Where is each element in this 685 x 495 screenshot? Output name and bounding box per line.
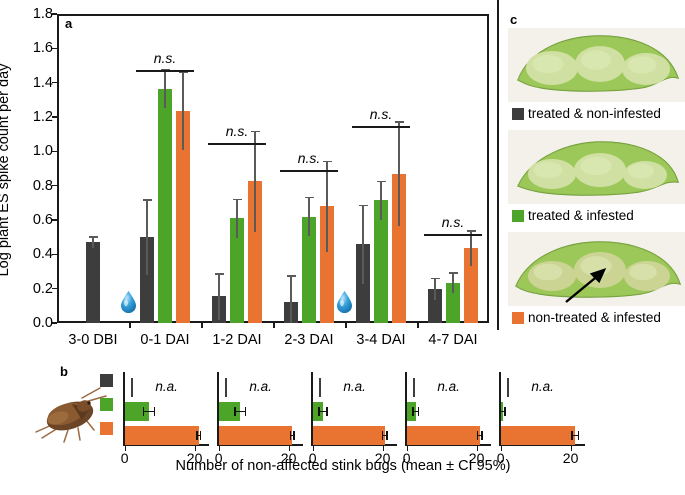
panel-a-error-bar — [290, 275, 292, 323]
panel-b-subplot: n.a.020 — [405, 372, 491, 446]
panel-a-error-bar — [434, 278, 436, 300]
panel-divider — [497, 0, 499, 330]
legend-swatch-treated-infested — [100, 398, 113, 411]
panel-a: a Log plant ES spike count per day 0.00.… — [0, 0, 495, 360]
panel-a-significance-label: n.s. — [154, 50, 177, 66]
panel-b-na-label: n.a. — [343, 379, 366, 394]
panel-a-error-bar-cap — [143, 199, 152, 201]
panel-a-significance-bar — [280, 170, 338, 172]
panel-a-y-tick-label: 1.8 — [33, 6, 53, 22]
panel-a-error-bar — [470, 230, 472, 266]
panel-a-y-tick-label: 0.4 — [33, 246, 53, 262]
panel-a-x-tick-label: 4-7 DAI — [428, 332, 477, 348]
panel-c-item: treated & infested — [508, 130, 685, 223]
panel-c-item: treated & non-infested — [508, 28, 685, 121]
panel-a-y-tick-label: 0.2 — [33, 281, 53, 297]
panel-a-error-bar — [380, 181, 382, 220]
panel-a-error-bar — [146, 199, 148, 275]
panel-a-significance-bar — [424, 234, 482, 236]
legend-swatch-treated-infested — [512, 210, 524, 222]
panel-b-bar — [125, 426, 199, 445]
panel-a-error-bar-cap — [431, 278, 440, 280]
water-drop-icon — [120, 290, 137, 313]
panel-a-y-axis-label: Log plant ES spike count per day — [0, 64, 12, 277]
panel-a-significance-bar — [352, 126, 410, 128]
panel-a-error-bar — [218, 273, 220, 319]
panel-b-error-bar-cap — [326, 407, 328, 416]
panel-b-error-bar-cap — [318, 407, 320, 416]
panel-a-error-bar-cap — [377, 181, 386, 183]
panel-b-error-bar-cap — [481, 431, 483, 440]
panel-a-y-tick-label: 1.6 — [33, 40, 53, 56]
panel-a-error-bar-cap — [467, 230, 476, 232]
panel-a-y-tick-label: 1.4 — [33, 75, 53, 91]
panel-a-x-tickmark — [129, 323, 131, 328]
panel-a-error-bar — [254, 131, 256, 232]
panel-a-x-tickmark — [273, 323, 275, 328]
panel-b-error-bar-cap — [412, 407, 414, 416]
panel-b-error-bar-cap — [196, 431, 198, 440]
panel-a-error-bar-cap — [359, 205, 368, 207]
panel-b-na-label: n.a. — [249, 379, 272, 394]
panel-b-x-axis-label: Number of non-affected stink bugs (mean … — [176, 458, 511, 474]
panel-a-x-tick-label: 1-2 DAI — [212, 332, 261, 348]
panel-b-subplot: n.a.020 — [123, 372, 209, 446]
panel-c: c treated & non-infested treated & infes… — [497, 0, 685, 330]
panel-a-error-bar-cap — [215, 273, 224, 275]
water-drop-icon — [336, 290, 353, 313]
panel-b: b n.a.020 n.a.020 n.a.020 — [0, 358, 685, 495]
panel-b-error-bar-cap — [293, 431, 295, 440]
panel-a-axis-top — [57, 14, 489, 16]
panel-a-error-bar-cap — [323, 161, 332, 163]
panel-b-subplot: n.a.020 — [499, 372, 585, 446]
panel-a-error-bar-cap — [179, 72, 188, 74]
panel-a-error-bar — [182, 72, 184, 151]
panel-a-error-bar-cap — [233, 199, 242, 201]
figure-root: a Log plant ES spike count per day 0.00.… — [0, 0, 685, 495]
panel-c-item: non-treated & infested — [508, 232, 685, 325]
panel-b-zero-marker — [413, 378, 415, 397]
panel-b-subplot: n.a.020 — [217, 372, 303, 446]
legend-swatch-treated-non-infested — [512, 108, 524, 120]
panel-b-letter: b — [60, 364, 68, 379]
panel-b-na-label: n.a. — [531, 379, 554, 394]
panel-b-error-bar-cap — [386, 431, 388, 440]
panel-c-content: treated & non-infested treated & infeste… — [508, 28, 685, 334]
panel-a-error-bar-cap — [251, 131, 260, 133]
panel-a-error-bar-cap — [449, 272, 458, 274]
panel-a-significance-bar — [208, 143, 266, 145]
panel-c-legend-label: non-treated & infested — [528, 310, 661, 325]
stink-bug-icon — [28, 380, 116, 450]
panel-b-error-bar-cap — [418, 407, 420, 416]
legend-swatch-non-treated-infested — [100, 422, 113, 435]
panel-a-error-bar — [92, 236, 94, 248]
panel-b-error-bar-cap — [504, 407, 506, 416]
panel-a-x-tickmark — [345, 323, 347, 328]
panel-a-error-bar — [452, 272, 454, 293]
panel-a-error-bar — [326, 161, 328, 252]
panel-a-x-tick-label: 0-1 DAI — [140, 332, 189, 348]
panel-a-x-tick-label: 3-0 DBI — [68, 332, 117, 348]
panel-b-error-bar-cap — [382, 431, 384, 440]
legend-swatch-treated-non-infested — [100, 374, 113, 387]
panel-c-legend-label: treated & infested — [528, 208, 634, 223]
soybean-pod-treated-infested — [508, 130, 685, 204]
panel-b-x-tick-label: 0 — [121, 450, 129, 466]
panel-b-na-label: n.a. — [437, 379, 460, 394]
panel-a-error-bar-cap — [89, 236, 98, 238]
panel-c-letter: c — [510, 12, 517, 27]
panel-a-error-bar — [164, 69, 166, 108]
panel-a-y-tick-label: 0.0 — [33, 315, 53, 331]
legend-swatch-non-treated-infested — [512, 312, 524, 324]
panel-a-plot-area: 0.00.20.40.60.81.01.21.41.61.8 3-0 DBI0-… — [57, 14, 489, 323]
soybean-pod-treated-non-infested — [508, 28, 685, 102]
panel-a-error-bar — [236, 199, 238, 238]
panel-b-zero-marker — [131, 378, 133, 397]
panel-a-x-tick-label: 3-4 DAI — [356, 332, 405, 348]
panel-a-error-bar — [308, 197, 310, 236]
panel-b-bar — [407, 426, 480, 445]
soybean-pod-non-treated-infested — [508, 232, 685, 306]
panel-a-error-bar — [398, 121, 400, 226]
panel-b-error-bar-cap — [200, 431, 202, 440]
panel-b-bar — [501, 426, 576, 445]
panel-a-axis-left — [57, 14, 59, 323]
panel-a-axis-right — [487, 14, 489, 323]
panel-b-subplot: n.a.020 — [311, 372, 397, 446]
panel-a-significance-label: n.s. — [226, 123, 249, 139]
panel-a-significance-label: n.s. — [298, 150, 321, 166]
panel-a-error-bar-cap — [305, 197, 314, 199]
panel-a-y-tick-label: 0.6 — [33, 212, 53, 228]
panel-c-legend-row: non-treated & infested — [512, 310, 685, 325]
panel-a-significance-label: n.s. — [442, 214, 465, 230]
panel-c-legend-row: treated & infested — [512, 208, 685, 223]
panel-b-error-bar-cap — [500, 407, 502, 416]
panel-c-legend-row: treated & non-infested — [512, 106, 685, 121]
panel-a-error-bar-cap — [287, 275, 296, 277]
panel-b-error-bar-cap — [143, 407, 145, 416]
panel-b-error-bar-cap — [571, 431, 573, 440]
panel-b-error-bar-cap — [578, 431, 580, 440]
panel-a-y-tick-label: 1.0 — [33, 143, 53, 159]
panel-b-error-bar-cap — [477, 431, 479, 440]
panel-a-bar — [158, 89, 172, 323]
panel-b-x-tick-label: 20 — [563, 450, 579, 466]
panel-a-error-bar-cap — [395, 121, 404, 123]
panel-b-na-label: n.a. — [155, 379, 178, 394]
panel-a-x-tick-label: 2-3 DAI — [284, 332, 333, 348]
panel-b-error-bar-cap — [154, 407, 156, 416]
panel-a-x-tickmark — [201, 323, 203, 328]
panel-a-error-bar — [362, 205, 364, 284]
panel-a-y-tick-label: 1.2 — [33, 109, 53, 125]
panel-b-bar — [219, 426, 293, 445]
panel-b-zero-marker — [225, 378, 227, 397]
panel-b-zero-marker — [319, 378, 321, 397]
panel-c-legend-label: treated & non-infested — [528, 106, 661, 121]
panel-a-bar — [86, 242, 100, 323]
panel-b-error-bar-cap — [290, 431, 292, 440]
panel-a-significance-bar — [136, 70, 194, 72]
panel-a-significance-label: n.s. — [370, 106, 393, 122]
panel-b-zero-marker — [507, 378, 509, 397]
panel-b-error-bar-cap — [245, 407, 247, 416]
panel-b-bar — [313, 426, 385, 445]
panel-a-x-tickmark — [417, 323, 419, 328]
panel-a-y-tick-label: 0.8 — [33, 178, 53, 194]
panel-b-error-bar-cap — [234, 407, 236, 416]
